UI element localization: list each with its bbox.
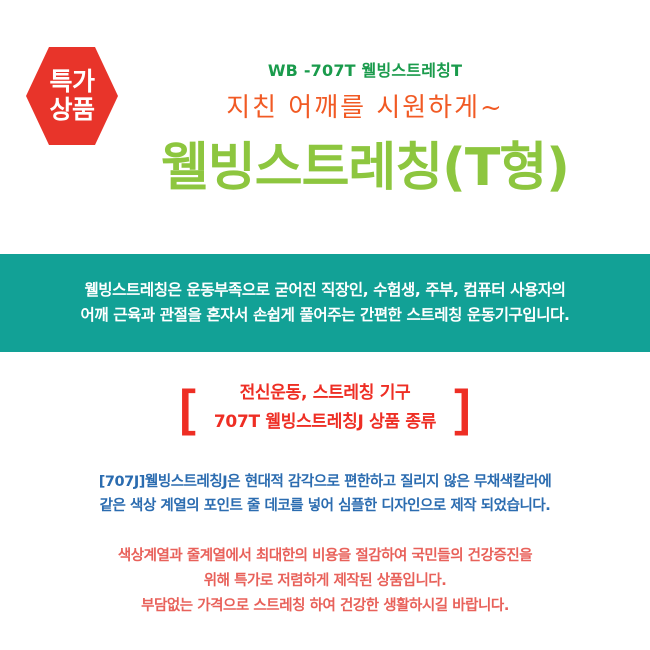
description-banner: 웰빙스트레칭은 운동부족으로 굳어진 직장인, 수험생, 주부, 컴퓨터 사용자… <box>0 254 650 352</box>
blue-line-2: 같은 색상 계열의 포인트 줄 데코를 넣어 심플한 디자인으로 제작 되었습니… <box>0 495 650 519</box>
page-title: 웰빙스트레칭(T형) <box>120 141 610 196</box>
right-bracket-icon: ] <box>454 383 471 433</box>
pricing-message-paragraph: 색상계열과 줄계열에서 최대한의 비용을 절감하여 국민들의 건강증진을 위해 … <box>0 544 650 619</box>
banner-line-2: 어깨 근육과 관절을 혼자서 손쉽게 풀어주는 간편한 스트레칭 운동기구입니다… <box>81 303 570 328</box>
hero-text-block: WB -707T 웰빙스트레칭T 지친 어깨를 시원하게~ 웰빙스트레칭(T형) <box>120 0 610 196</box>
banner-line-1: 웰빙스트레칭은 운동부족으로 굳어진 직장인, 수험생, 주부, 컴퓨터 사용자… <box>84 278 565 303</box>
salmon-line-2: 위해 특가로 저렴하게 제작된 상품입니다. <box>0 569 650 594</box>
blue-line-1: [707J]웰빙스트레칭J은 현대적 감각으로 편한하고 질리지 않은 무채색칼… <box>0 471 650 495</box>
badge-line-1: 특가 <box>49 69 94 95</box>
salmon-line-1: 색상계열과 줄계열에서 최대한의 비용을 절감하여 국민들의 건강증진을 <box>0 544 650 569</box>
bracket-line-2: 707T 웰빙스트레칭J 상품 종류 <box>214 412 436 433</box>
product-model-line: WB -707T 웰빙스트레칭T <box>120 63 610 79</box>
product-category-section: [ 전신운동, 스트레칭 기구 707T 웰빙스트레칭J 상품 종류 ] <box>0 383 650 433</box>
bracket-text-block: 전신운동, 스트레칭 기구 707T 웰빙스트레칭J 상품 종류 <box>214 383 436 433</box>
badge-line-2: 상품 <box>49 97 94 123</box>
product-advertisement-page: 특가 상품 WB -707T 웰빙스트레칭T 지친 어깨를 시원하게~ 웰빙스트… <box>0 0 650 650</box>
bracket-line-1: 전신운동, 스트레칭 기구 <box>240 383 411 404</box>
left-bracket-icon: [ <box>179 383 196 433</box>
special-price-badge: 특가 상품 <box>26 47 118 145</box>
design-description-paragraph: [707J]웰빙스트레칭J은 현대적 감각으로 편한하고 질리지 않은 무채색칼… <box>0 471 650 519</box>
hero-section: 특가 상품 WB -707T 웰빙스트레칭T 지친 어깨를 시원하게~ 웰빙스트… <box>0 0 650 254</box>
salmon-line-3: 부담없는 가격으로 스트레칭 하여 건강한 생활하시길 바랍니다. <box>0 594 650 619</box>
tagline-script: 지친 어깨를 시원하게~ <box>120 95 610 121</box>
